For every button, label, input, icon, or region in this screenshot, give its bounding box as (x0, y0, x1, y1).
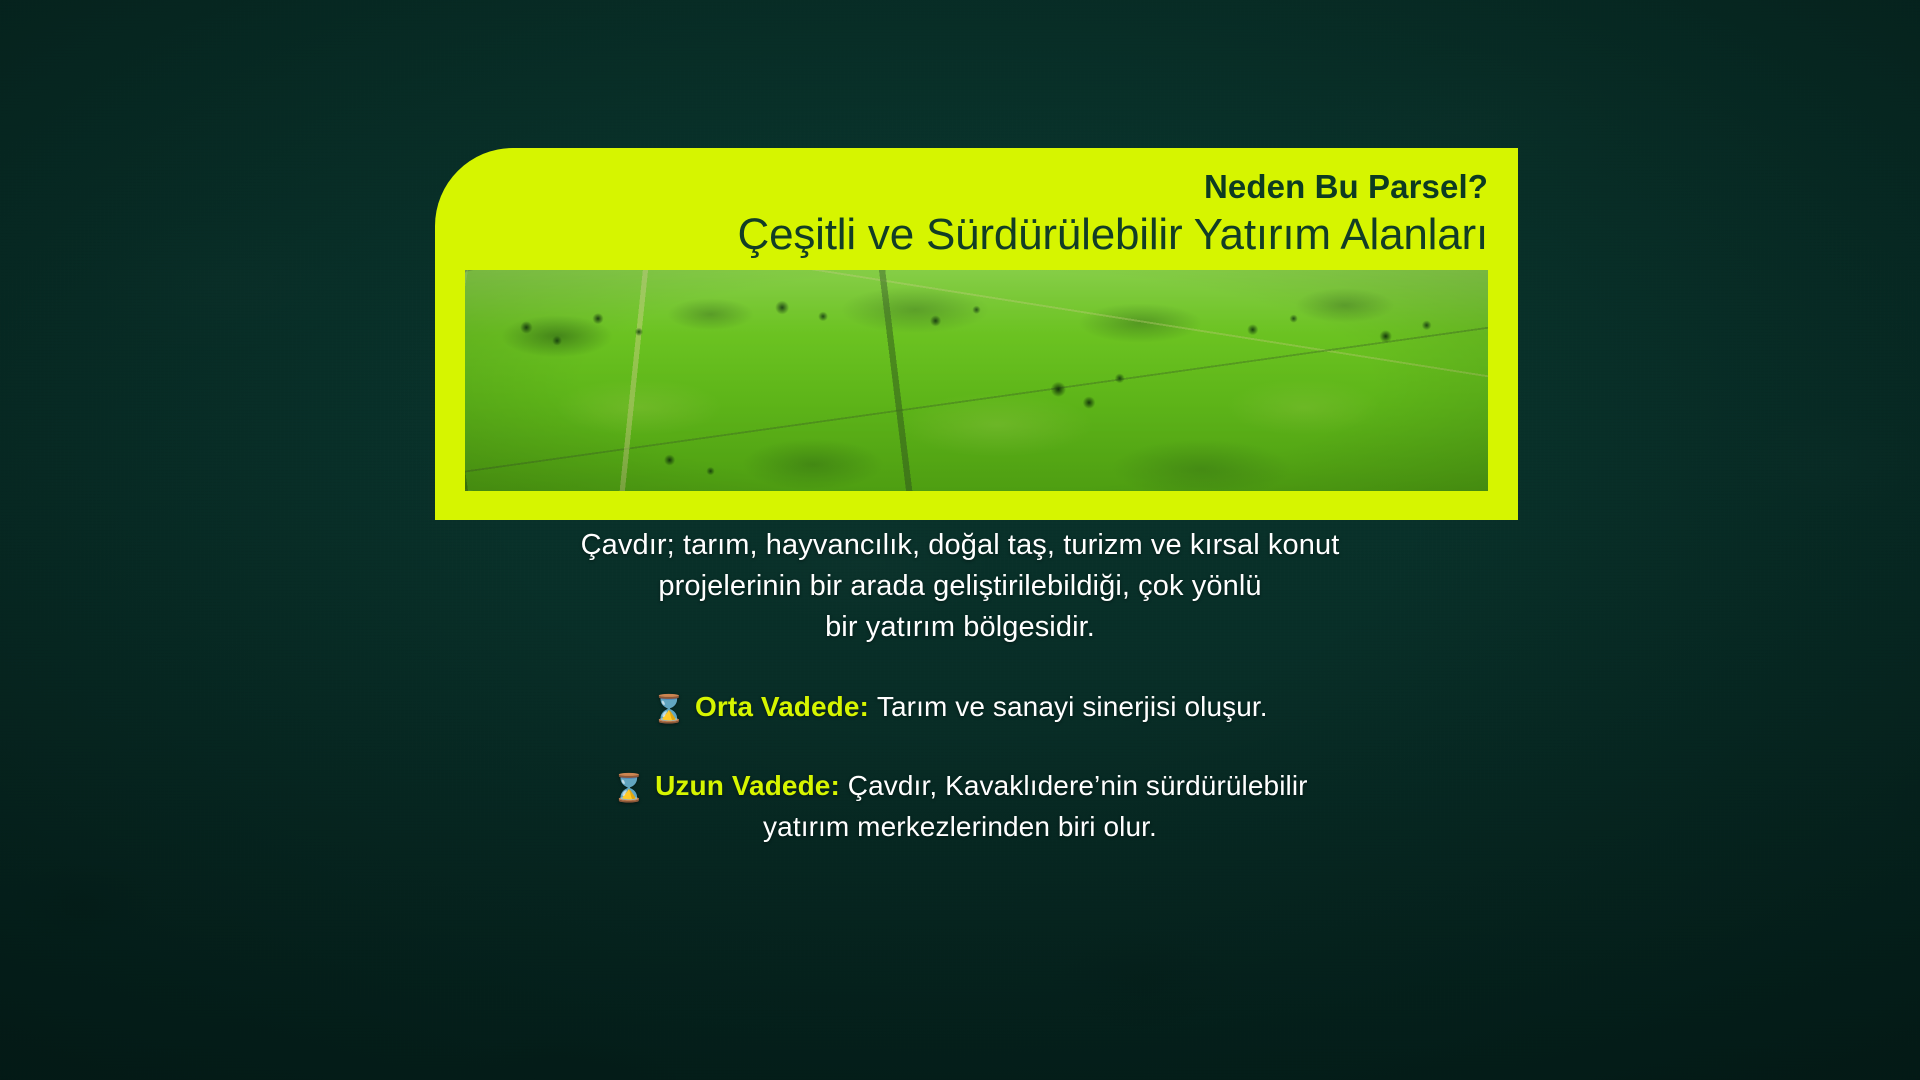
card-photo-shading (465, 270, 1488, 491)
bullet-label-orta-vadede: Orta Vadede: (695, 691, 869, 722)
bullet-label-uzun-vadede: Uzun Vadede: (655, 770, 840, 801)
hourglass-icon: ⌛ (652, 694, 686, 724)
slide-root: Neden Bu Parsel? Çeşitli ve Sürdürülebil… (0, 0, 1920, 1080)
intro-line-1: Çavdır; tarım, hayvancılık, doğal taş, t… (0, 525, 1920, 566)
card-photo (465, 270, 1488, 491)
hourglass-icon: ⌛ (612, 773, 646, 803)
bullet-orta-vadede: ⌛Orta Vadede: Tarım ve sanayi sinerjisi … (0, 687, 1920, 728)
bullet-text-orta-vadede: Tarım ve sanayi sinerjisi oluşur. (869, 691, 1268, 722)
card-subtitle: Çeşitli ve Sürdürülebilir Yatırım Alanla… (465, 209, 1488, 262)
bullet-text-uzun-vadede-line-1: Çavdır, Kavaklıdere’nin sürdürülebilir (848, 770, 1308, 801)
intro-paragraph: Çavdır; tarım, hayvancılık, doğal taş, t… (0, 525, 1920, 649)
card-heading: Neden Bu Parsel? Çeşitli ve Sürdürülebil… (465, 166, 1488, 262)
bullet-text-orta-vadede-line-1: Tarım ve sanayi sinerjisi oluşur. (877, 691, 1268, 722)
bullet-text-uzun-vadede-line-2: yatırım merkezlerinden biri olur. (0, 807, 1920, 847)
intro-line-3: bir yatırım bölgesidir. (0, 607, 1920, 648)
intro-line-2: projelerinin bir arada geliştirilebildiğ… (0, 566, 1920, 607)
card-title: Neden Bu Parsel? (465, 166, 1488, 207)
body-copy: Çavdır; tarım, hayvancılık, doğal taş, t… (0, 525, 1920, 847)
bullet-text-uzun-vadede: Çavdır, Kavaklıdere’nin sürdürülebilir (840, 770, 1308, 801)
highlight-card: Neden Bu Parsel? Çeşitli ve Sürdürülebil… (435, 148, 1518, 520)
bullet-uzun-vadede: ⌛Uzun Vadede: Çavdır, Kavaklıdere’nin sü… (0, 766, 1920, 847)
